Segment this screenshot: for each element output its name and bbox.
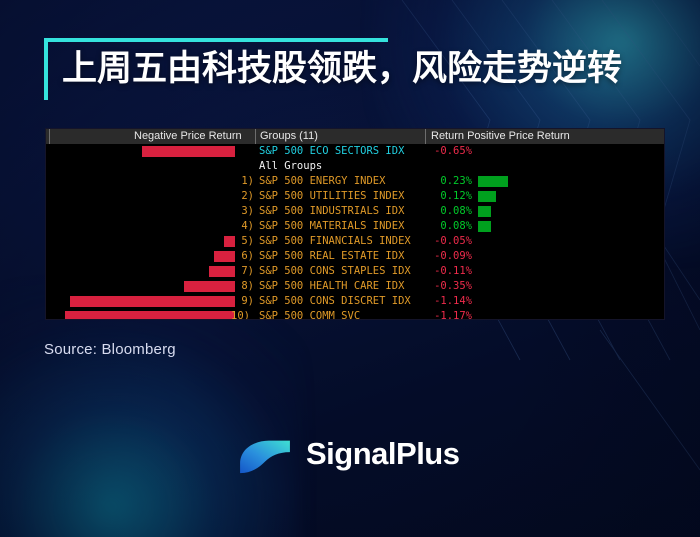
row-label: S&P 500 CONS STAPLES IDX (259, 265, 411, 277)
table-row: 6) S&P 500 REAL ESTATE IDX -0.09% (46, 249, 664, 264)
panel-header-bar: Negative Price Return Groups (11) Return… (46, 129, 664, 144)
row-value: 0.23% (418, 175, 472, 187)
row-value: -1.14% (418, 295, 472, 307)
row-value: 0.12% (418, 190, 472, 202)
table-row: 7) S&P 500 CONS STAPLES IDX -0.11% (46, 264, 664, 279)
table-row: 8) S&P 500 HEALTH CARE IDX -0.35% (46, 279, 664, 294)
table-row: 10) S&P 500 COMM SVC -1.17% (46, 309, 664, 320)
row-value: -0.11% (418, 265, 472, 277)
row-value: -0.65% (418, 145, 472, 157)
column-header-positive: Return Positive Price Return (431, 130, 570, 142)
row-value: 0.08% (418, 205, 472, 217)
positive-bar (478, 176, 508, 187)
title-block: 上周五由科技股领跌，风险走势逆转 (40, 38, 660, 104)
header-divider-mid (255, 129, 256, 144)
signalplus-mark-icon (236, 431, 294, 477)
negative-bar (65, 311, 235, 320)
row-number: 1) (228, 175, 254, 187)
table-row: S&P 500 ECO SECTORS IDX -0.65% (46, 144, 664, 159)
table-row: 5) S&P 500 FINANCIALS INDEX -0.05% (46, 234, 664, 249)
row-number: 2) (228, 190, 254, 202)
brand-logo: SignalPlus (236, 428, 468, 480)
row-label: S&P 500 MATERIALS INDEX (259, 220, 404, 232)
row-label: S&P 500 REAL ESTATE IDX (259, 250, 404, 262)
row-label: S&P 500 ENERGY INDEX (259, 175, 385, 187)
row-value: -1.17% (418, 310, 472, 320)
row-label: S&P 500 UTILITIES INDEX (259, 190, 404, 202)
row-number: 3) (228, 205, 254, 217)
row-label: S&P 500 COMM SVC (259, 310, 360, 320)
row-value: 0.08% (418, 220, 472, 232)
title-accent-top-line (44, 38, 388, 42)
row-value: -0.05% (418, 235, 472, 247)
row-number: 4) (228, 220, 254, 232)
page-title: 上周五由科技股领跌，风险走势逆转 (62, 44, 622, 94)
row-value: -0.09% (418, 250, 472, 262)
row-number: 5) (228, 235, 254, 247)
row-number: 10) (224, 310, 250, 320)
row-label: S&P 500 INDUSTRIALS IDX (259, 205, 404, 217)
table-row: 1) S&P 500 ENERGY INDEX 0.23% (46, 174, 664, 189)
row-label: All Groups (259, 160, 322, 172)
positive-bar (478, 191, 496, 202)
row-value: -0.35% (418, 280, 472, 292)
source-caption: Source: Bloomberg (44, 341, 176, 358)
table-row: 3) S&P 500 INDUSTRIALS IDX 0.08% (46, 204, 664, 219)
panel-rows: S&P 500 ECO SECTORS IDX -0.65% All Group… (46, 144, 664, 320)
column-header-negative: Negative Price Return (134, 130, 242, 142)
row-label: S&P 500 ECO SECTORS IDX (259, 145, 404, 157)
negative-bar (70, 296, 235, 307)
header-divider-left (49, 129, 50, 144)
brand-name: SignalPlus (306, 436, 459, 472)
row-label: S&P 500 CONS DISCRET IDX (259, 295, 411, 307)
positive-bar (478, 206, 491, 217)
header-divider-right (425, 129, 426, 144)
row-number: 8) (228, 280, 254, 292)
row-number: 7) (228, 265, 254, 277)
table-row: All Groups (46, 159, 664, 174)
table-row: 4) S&P 500 MATERIALS INDEX 0.08% (46, 219, 664, 234)
row-label: S&P 500 HEALTH CARE IDX (259, 280, 404, 292)
table-row: 2) S&P 500 UTILITIES INDEX 0.12% (46, 189, 664, 204)
title-accent-left-line (44, 38, 48, 100)
slide-root: 上周五由科技股领跌，风险走势逆转 Negative Price Return G… (0, 0, 700, 537)
negative-bar (142, 146, 235, 157)
row-number: 9) (228, 295, 254, 307)
positive-bar (478, 221, 491, 232)
row-label: S&P 500 FINANCIALS INDEX (259, 235, 411, 247)
table-row: 9) S&P 500 CONS DISCRET IDX -1.14% (46, 294, 664, 309)
row-number: 6) (228, 250, 254, 262)
column-header-groups: Groups (11) (260, 130, 318, 142)
bloomberg-chart-panel: Negative Price Return Groups (11) Return… (45, 128, 665, 320)
